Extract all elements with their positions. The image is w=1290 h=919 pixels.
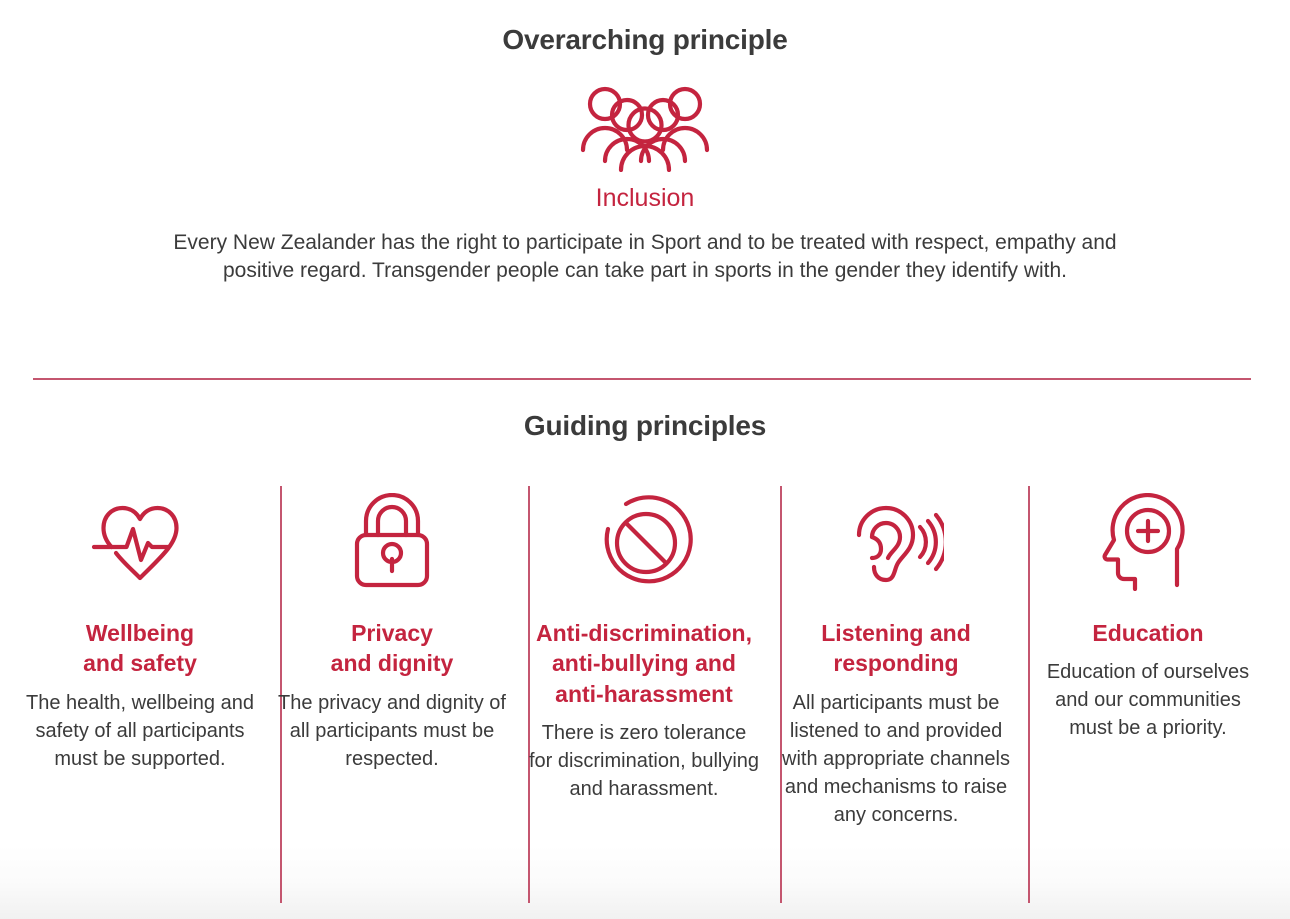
- padlock-icon: [348, 493, 436, 591]
- group-of-people-icon: [579, 82, 711, 172]
- overarching-principle-heading: Overarching principle: [0, 0, 1290, 56]
- inclusion-icon-wrap: [0, 82, 1290, 172]
- principle-title: Education: [1092, 618, 1203, 648]
- principle-column-listening: Listening and responding All participant…: [770, 486, 1022, 829]
- education-icon-wrap: [1100, 486, 1196, 598]
- anti-discrimination-icon-wrap: [595, 486, 693, 598]
- principle-title: Privacy and dignity: [331, 618, 454, 679]
- privacy-icon-wrap: [348, 486, 436, 598]
- principle-column-education: Education Education of ourselves and our…: [1022, 486, 1274, 742]
- principle-description: All participants must be listened to and…: [780, 689, 1012, 829]
- inclusion-description: Every New Zealander has the right to par…: [145, 229, 1145, 286]
- guiding-principles-heading: Guiding principles: [0, 410, 1290, 442]
- prohibition-sign-icon: [595, 495, 693, 589]
- principle-title: Wellbeing and safety: [83, 618, 197, 679]
- wellbeing-icon-wrap: [88, 486, 192, 598]
- principle-description: The privacy and dignity of all participa…: [276, 689, 508, 773]
- overarching-principle-section: Overarching principle: [0, 0, 1290, 286]
- infographic-page: Overarching principle: [0, 0, 1290, 919]
- listening-icon-wrap: [848, 486, 944, 598]
- heart-heartbeat-icon: [88, 496, 192, 588]
- principle-description: There is zero tolerance for discriminati…: [528, 719, 760, 803]
- principle-column-privacy: Privacy and dignity The privacy and dign…: [266, 486, 518, 773]
- principle-title: Anti-discrimination, anti-bullying and a…: [536, 618, 752, 709]
- ear-listening-icon: [848, 495, 944, 589]
- guiding-principles-columns: Wellbeing and safety The health, wellbei…: [14, 486, 1276, 829]
- principle-description: Education of ourselves and our communiti…: [1032, 658, 1264, 742]
- section-divider: [33, 378, 1251, 380]
- head-plus-education-icon: [1100, 493, 1196, 591]
- inclusion-title: Inclusion: [0, 184, 1290, 213]
- principle-column-anti-discrimination: Anti-discrimination, anti-bullying and a…: [518, 486, 770, 803]
- principle-title: Listening and responding: [821, 618, 971, 679]
- principle-description: The health, wellbeing and safety of all …: [24, 689, 256, 773]
- principle-column-wellbeing: Wellbeing and safety The health, wellbei…: [14, 486, 266, 773]
